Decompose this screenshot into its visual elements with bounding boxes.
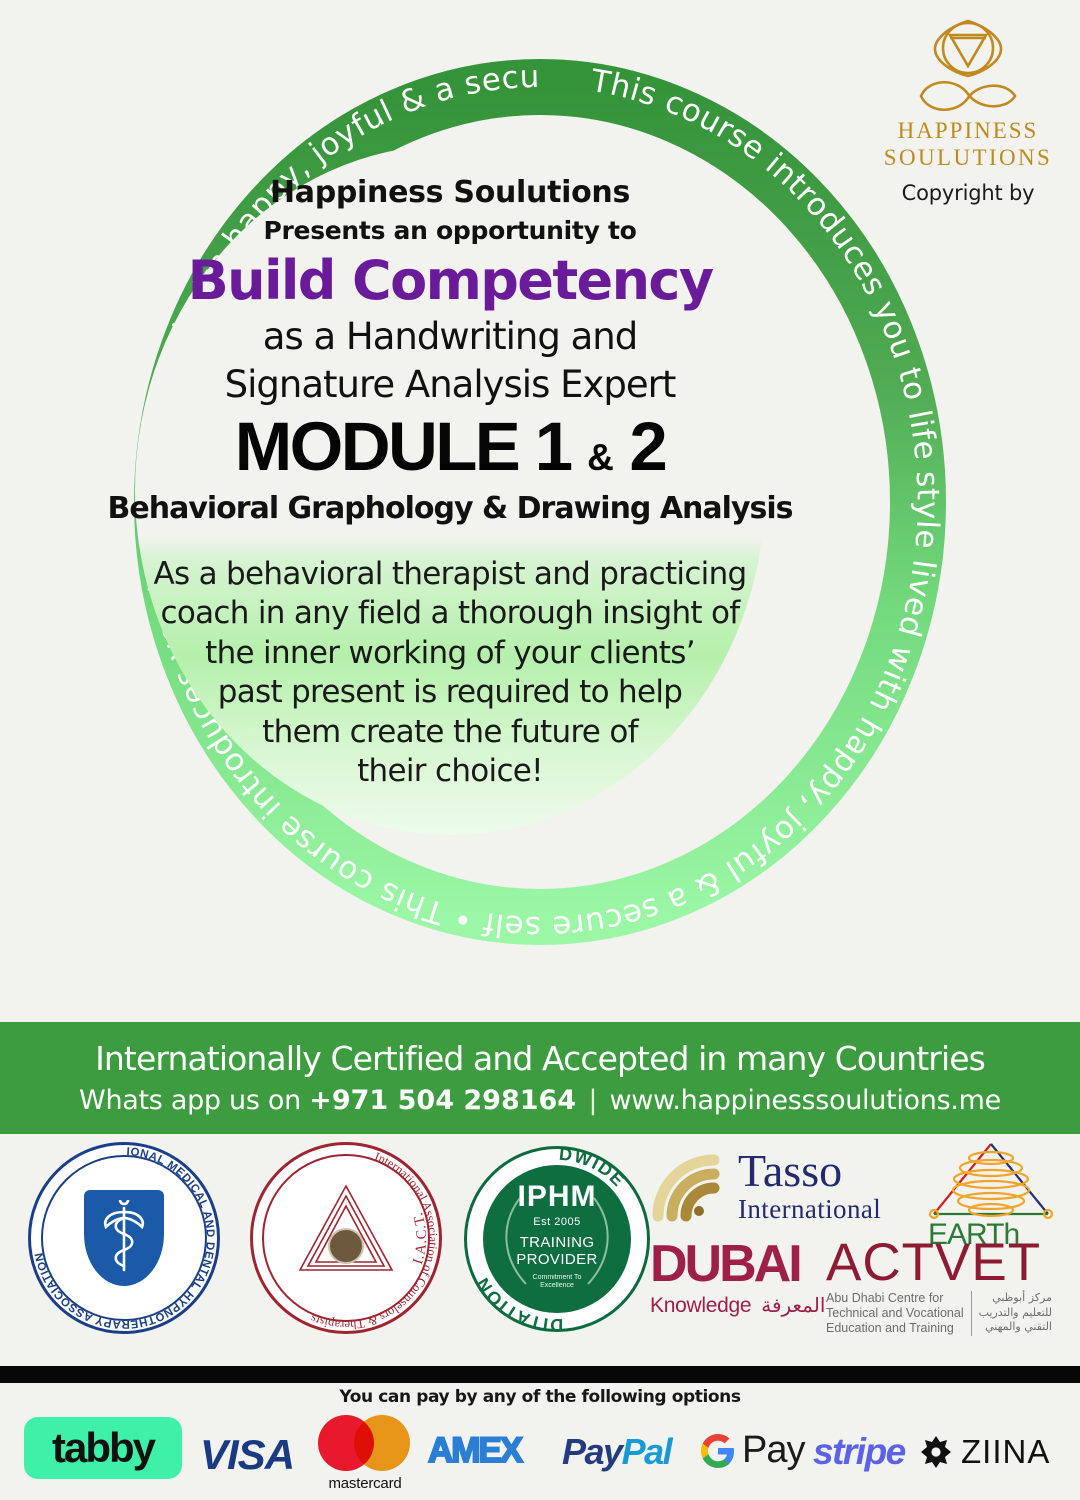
paypal-label-b: Pal bbox=[622, 1431, 672, 1472]
earth-globe-icon bbox=[916, 1140, 1066, 1226]
brand-logo-block: HAPPINESS SOULUTIONS Copyright by bbox=[878, 16, 1058, 205]
subtitle-line-1: as a Handwriting and bbox=[263, 316, 637, 358]
actvet-sub-line-3: Education and Training bbox=[826, 1321, 964, 1336]
badge-imdha: INTERNATIONAL MEDICAL AND DENTAL HYPNOTH… bbox=[28, 1142, 220, 1334]
actvet-sub-ar-1: مركز أبوظبي bbox=[979, 1291, 1052, 1305]
iphm-laurel-icon bbox=[464, 1146, 650, 1332]
payment-stripe[interactable]: stripe bbox=[813, 1431, 905, 1473]
body-copy: As a behavioral therapist and practicing… bbox=[130, 555, 770, 791]
payment-mastercard[interactable]: mastercard bbox=[310, 1415, 420, 1492]
module-title: Behavioral Graphology & Drawing Analysis bbox=[108, 492, 793, 525]
ziina-label: ZIINA bbox=[961, 1433, 1050, 1471]
payment-ziina[interactable]: ZIINA bbox=[920, 1433, 1050, 1471]
website-link[interactable]: www.happinesssoulutions.me bbox=[610, 1085, 1001, 1116]
body-line-6: their choice! bbox=[130, 752, 770, 791]
svg-text:I.A.C.T.: I.A.C.T. bbox=[410, 1210, 430, 1267]
headline: Build Competency bbox=[188, 253, 713, 310]
poster-root: This course introduces you to life style… bbox=[0, 0, 1080, 1500]
body-line-1: As a behavioral therapist and practicing bbox=[130, 555, 770, 594]
badge-actvet: ACTVET Abu Dhabi Centre for Technical an… bbox=[826, 1238, 1076, 1330]
module-line: MODULE 1 & 2 bbox=[235, 412, 665, 481]
body-line-2: coach in any field a thorough insight of bbox=[130, 594, 770, 633]
caduceus-icon bbox=[101, 1200, 147, 1276]
badge-dubai-knowledge: DUBAI Knowledge المعرفة bbox=[650, 1238, 840, 1330]
tasso-arc-icon bbox=[650, 1152, 736, 1222]
logo-wordmark-line2: SOULUTIONS bbox=[878, 145, 1058, 172]
tasso-line-2: International bbox=[738, 1196, 881, 1223]
copyright-text: Copyright by bbox=[878, 181, 1058, 205]
gpay-label: Pay bbox=[742, 1429, 804, 1472]
visa-label: VISA bbox=[200, 1431, 294, 1478]
mastercard-yellow-circle bbox=[354, 1415, 410, 1471]
google-g-icon bbox=[700, 1433, 736, 1469]
module-number-2: 2 bbox=[629, 408, 665, 485]
dubai-sub-en: Knowledge bbox=[650, 1294, 751, 1318]
tabby-label: tabby bbox=[52, 1424, 154, 1472]
banner-contact-line: Whats app us on +971 504 298164 | www.ha… bbox=[79, 1086, 1001, 1116]
payments-title: You can pay by any of the following opti… bbox=[0, 1387, 1080, 1407]
payment-google-pay[interactable]: Pay bbox=[700, 1429, 804, 1472]
paypal-label-a: Pay bbox=[562, 1431, 622, 1472]
actvet-sub-ar-2: للتعليم والتدريب bbox=[979, 1306, 1052, 1320]
module-number-1: 1 bbox=[535, 408, 571, 485]
stripe-label: stripe bbox=[813, 1431, 905, 1472]
ziina-star-icon bbox=[920, 1436, 952, 1468]
lotus-infinity-logo-icon bbox=[901, 16, 1035, 112]
contact-separator: | bbox=[584, 1085, 601, 1116]
brand-name: Happiness Soulutions bbox=[270, 176, 630, 210]
tasso-wordmark: Tasso International bbox=[738, 1148, 881, 1223]
phone-number[interactable]: +971 504 298164 bbox=[309, 1085, 576, 1116]
badge-tasso: Tasso International bbox=[650, 1146, 900, 1236]
payment-tabby[interactable]: tabby bbox=[24, 1417, 182, 1479]
actvet-subtitle: Abu Dhabi Centre for Technical and Vocat… bbox=[826, 1291, 1076, 1335]
badge-iact: International Association of Counselors … bbox=[250, 1142, 442, 1334]
badge-earth: EARTh bbox=[916, 1140, 1066, 1248]
actvet-divider bbox=[971, 1291, 972, 1335]
body-line-3: the inner working of your clients’ bbox=[130, 634, 770, 673]
payment-logos-row: tabby VISA mastercard AMEX PayPal bbox=[0, 1409, 1080, 1499]
mastercard-label: mastercard bbox=[310, 1475, 420, 1492]
tasso-line-1: Tasso bbox=[738, 1148, 881, 1194]
black-divider bbox=[0, 1366, 1080, 1383]
whatsapp-label: Whats app us on bbox=[79, 1085, 301, 1116]
badge-iphm: WORLDWIDE ACCREDITATION IPHM Est 2005 TR… bbox=[464, 1146, 650, 1332]
subtitle-line-2: Signature Analysis Expert bbox=[225, 364, 676, 406]
iact-ring-text: International Association of Counselors … bbox=[250, 1142, 442, 1334]
body-line-5: them create the future of bbox=[130, 713, 770, 752]
logo-wordmark: HAPPINESS SOULUTIONS bbox=[878, 118, 1058, 171]
body-line-4: past present is required to help bbox=[130, 673, 770, 712]
payment-amex[interactable]: AMEX bbox=[428, 1431, 521, 1471]
actvet-sub-line-1: Abu Dhabi Centre for bbox=[826, 1291, 964, 1306]
module-prefix: MODULE bbox=[235, 408, 518, 485]
actvet-wordmark: ACTVET bbox=[826, 1238, 1076, 1288]
mastercard-icon bbox=[310, 1415, 420, 1471]
presents-line: Presents an opportunity to bbox=[263, 217, 636, 245]
dubai-wordmark: DUBAI bbox=[650, 1238, 840, 1290]
center-content: Happiness Soulutions Presents an opportu… bbox=[150, 160, 750, 820]
banner-headline: Internationally Certified and Accepted i… bbox=[95, 1041, 985, 1077]
payment-visa[interactable]: VISA bbox=[200, 1431, 294, 1479]
dubai-sub-ar: المعرفة bbox=[761, 1293, 825, 1317]
amex-label: AMEX bbox=[428, 1431, 521, 1470]
payments-section: You can pay by any of the following opti… bbox=[0, 1383, 1080, 1500]
hero-section: This course introduces you to life style… bbox=[0, 0, 1080, 1020]
actvet-sub-line-2: Technical and Vocational bbox=[826, 1306, 964, 1321]
logo-wordmark-line1: HAPPINESS bbox=[878, 118, 1058, 145]
module-ampersand: & bbox=[587, 437, 613, 478]
actvet-sub-ar-3: التقني والمهني bbox=[979, 1320, 1052, 1334]
accreditation-strip: INTERNATIONAL MEDICAL AND DENTAL HYPNOTH… bbox=[0, 1134, 1080, 1366]
payment-paypal[interactable]: PayPal bbox=[562, 1431, 671, 1473]
paypal-label: PayPal bbox=[562, 1431, 671, 1472]
certification-banner: Internationally Certified and Accepted i… bbox=[0, 1022, 1080, 1134]
